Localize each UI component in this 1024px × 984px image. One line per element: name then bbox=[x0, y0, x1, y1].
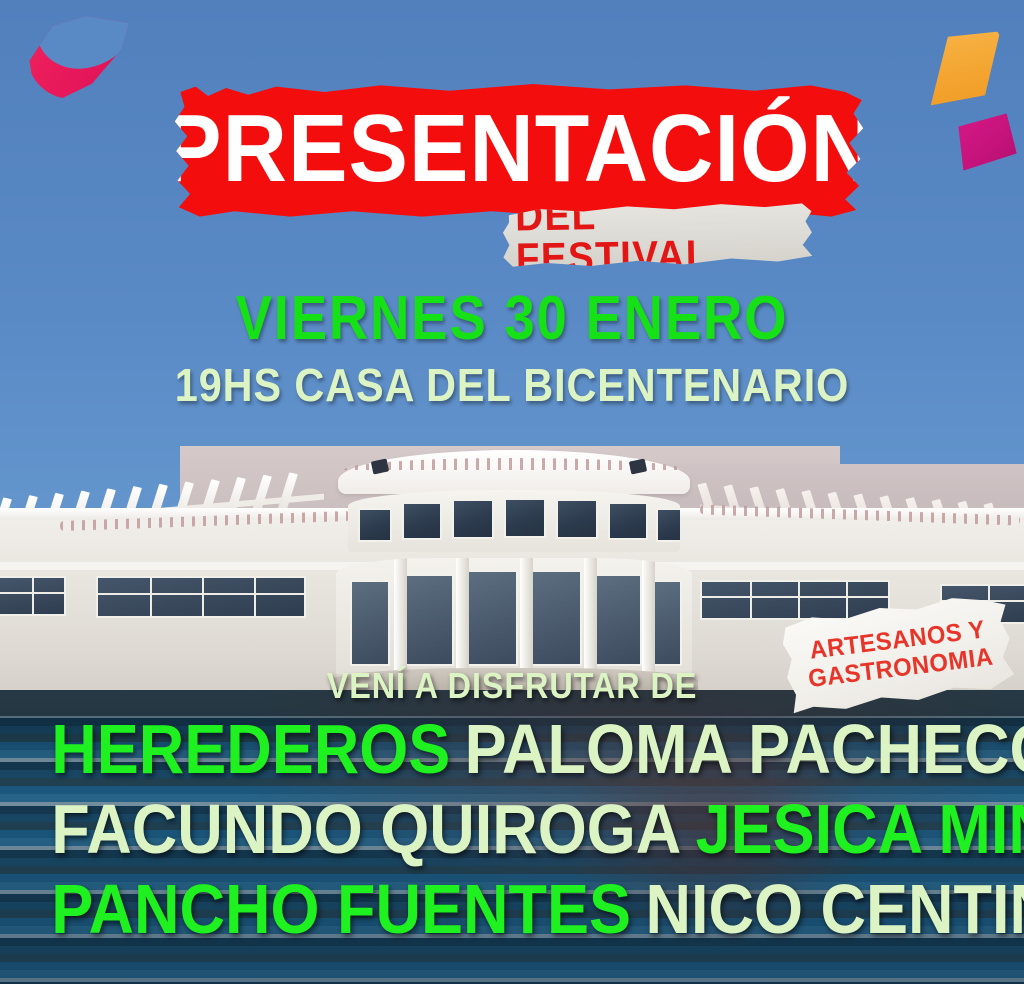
event-date: VIERNES 30 ENERO bbox=[61, 288, 962, 350]
facade-window bbox=[0, 576, 66, 616]
event-time-venue: 19HS CASA DEL BICENTENARIO bbox=[51, 362, 973, 408]
festival-poster: PRESENTACIÓN DEL FESTIVAL VIERNES 30 ENE… bbox=[0, 0, 1024, 984]
event-date-block: VIERNES 30 ENERO 19HS CASA DEL BICENTENA… bbox=[0, 288, 1024, 408]
lineup-row: PANCHO FUENTESNICO CENTINEO bbox=[51, 874, 973, 944]
building-rotunda bbox=[330, 450, 698, 700]
subheadline-tape: DEL FESTIVAL bbox=[502, 201, 815, 268]
rotunda-upper-windows bbox=[348, 490, 680, 552]
artist-name: FACUNDO QUIROGA bbox=[51, 790, 681, 868]
subheadline-text: DEL FESTIVAL bbox=[515, 201, 803, 268]
artist-name: HEREDEROS bbox=[51, 710, 450, 788]
lineup-row: FACUNDO QUIROGAJESICA MINTEGUIA bbox=[51, 794, 973, 864]
artist-name: PANCHO FUENTES bbox=[51, 870, 631, 948]
headline-banner: PRESENTACIÓN bbox=[172, 84, 866, 218]
artist-name: PALOMA PACHECO bbox=[465, 710, 1024, 788]
lineup-kicker: VENÍ A DISFRUTAR DE bbox=[51, 668, 973, 704]
artist-name: NICO CENTINEO bbox=[645, 870, 1024, 948]
page-title: PRESENTACIÓN bbox=[196, 84, 841, 218]
rotunda-lower-windows bbox=[336, 558, 692, 674]
lineup-row: HEREDEROSPALOMA PACHECO bbox=[51, 714, 973, 784]
facade-window bbox=[96, 576, 306, 618]
lineup-block: VENÍ A DISFRUTAR DE HEREDEROSPALOMA PACH… bbox=[0, 668, 1024, 944]
artist-name: JESICA MINTEGUIA bbox=[696, 790, 1024, 868]
